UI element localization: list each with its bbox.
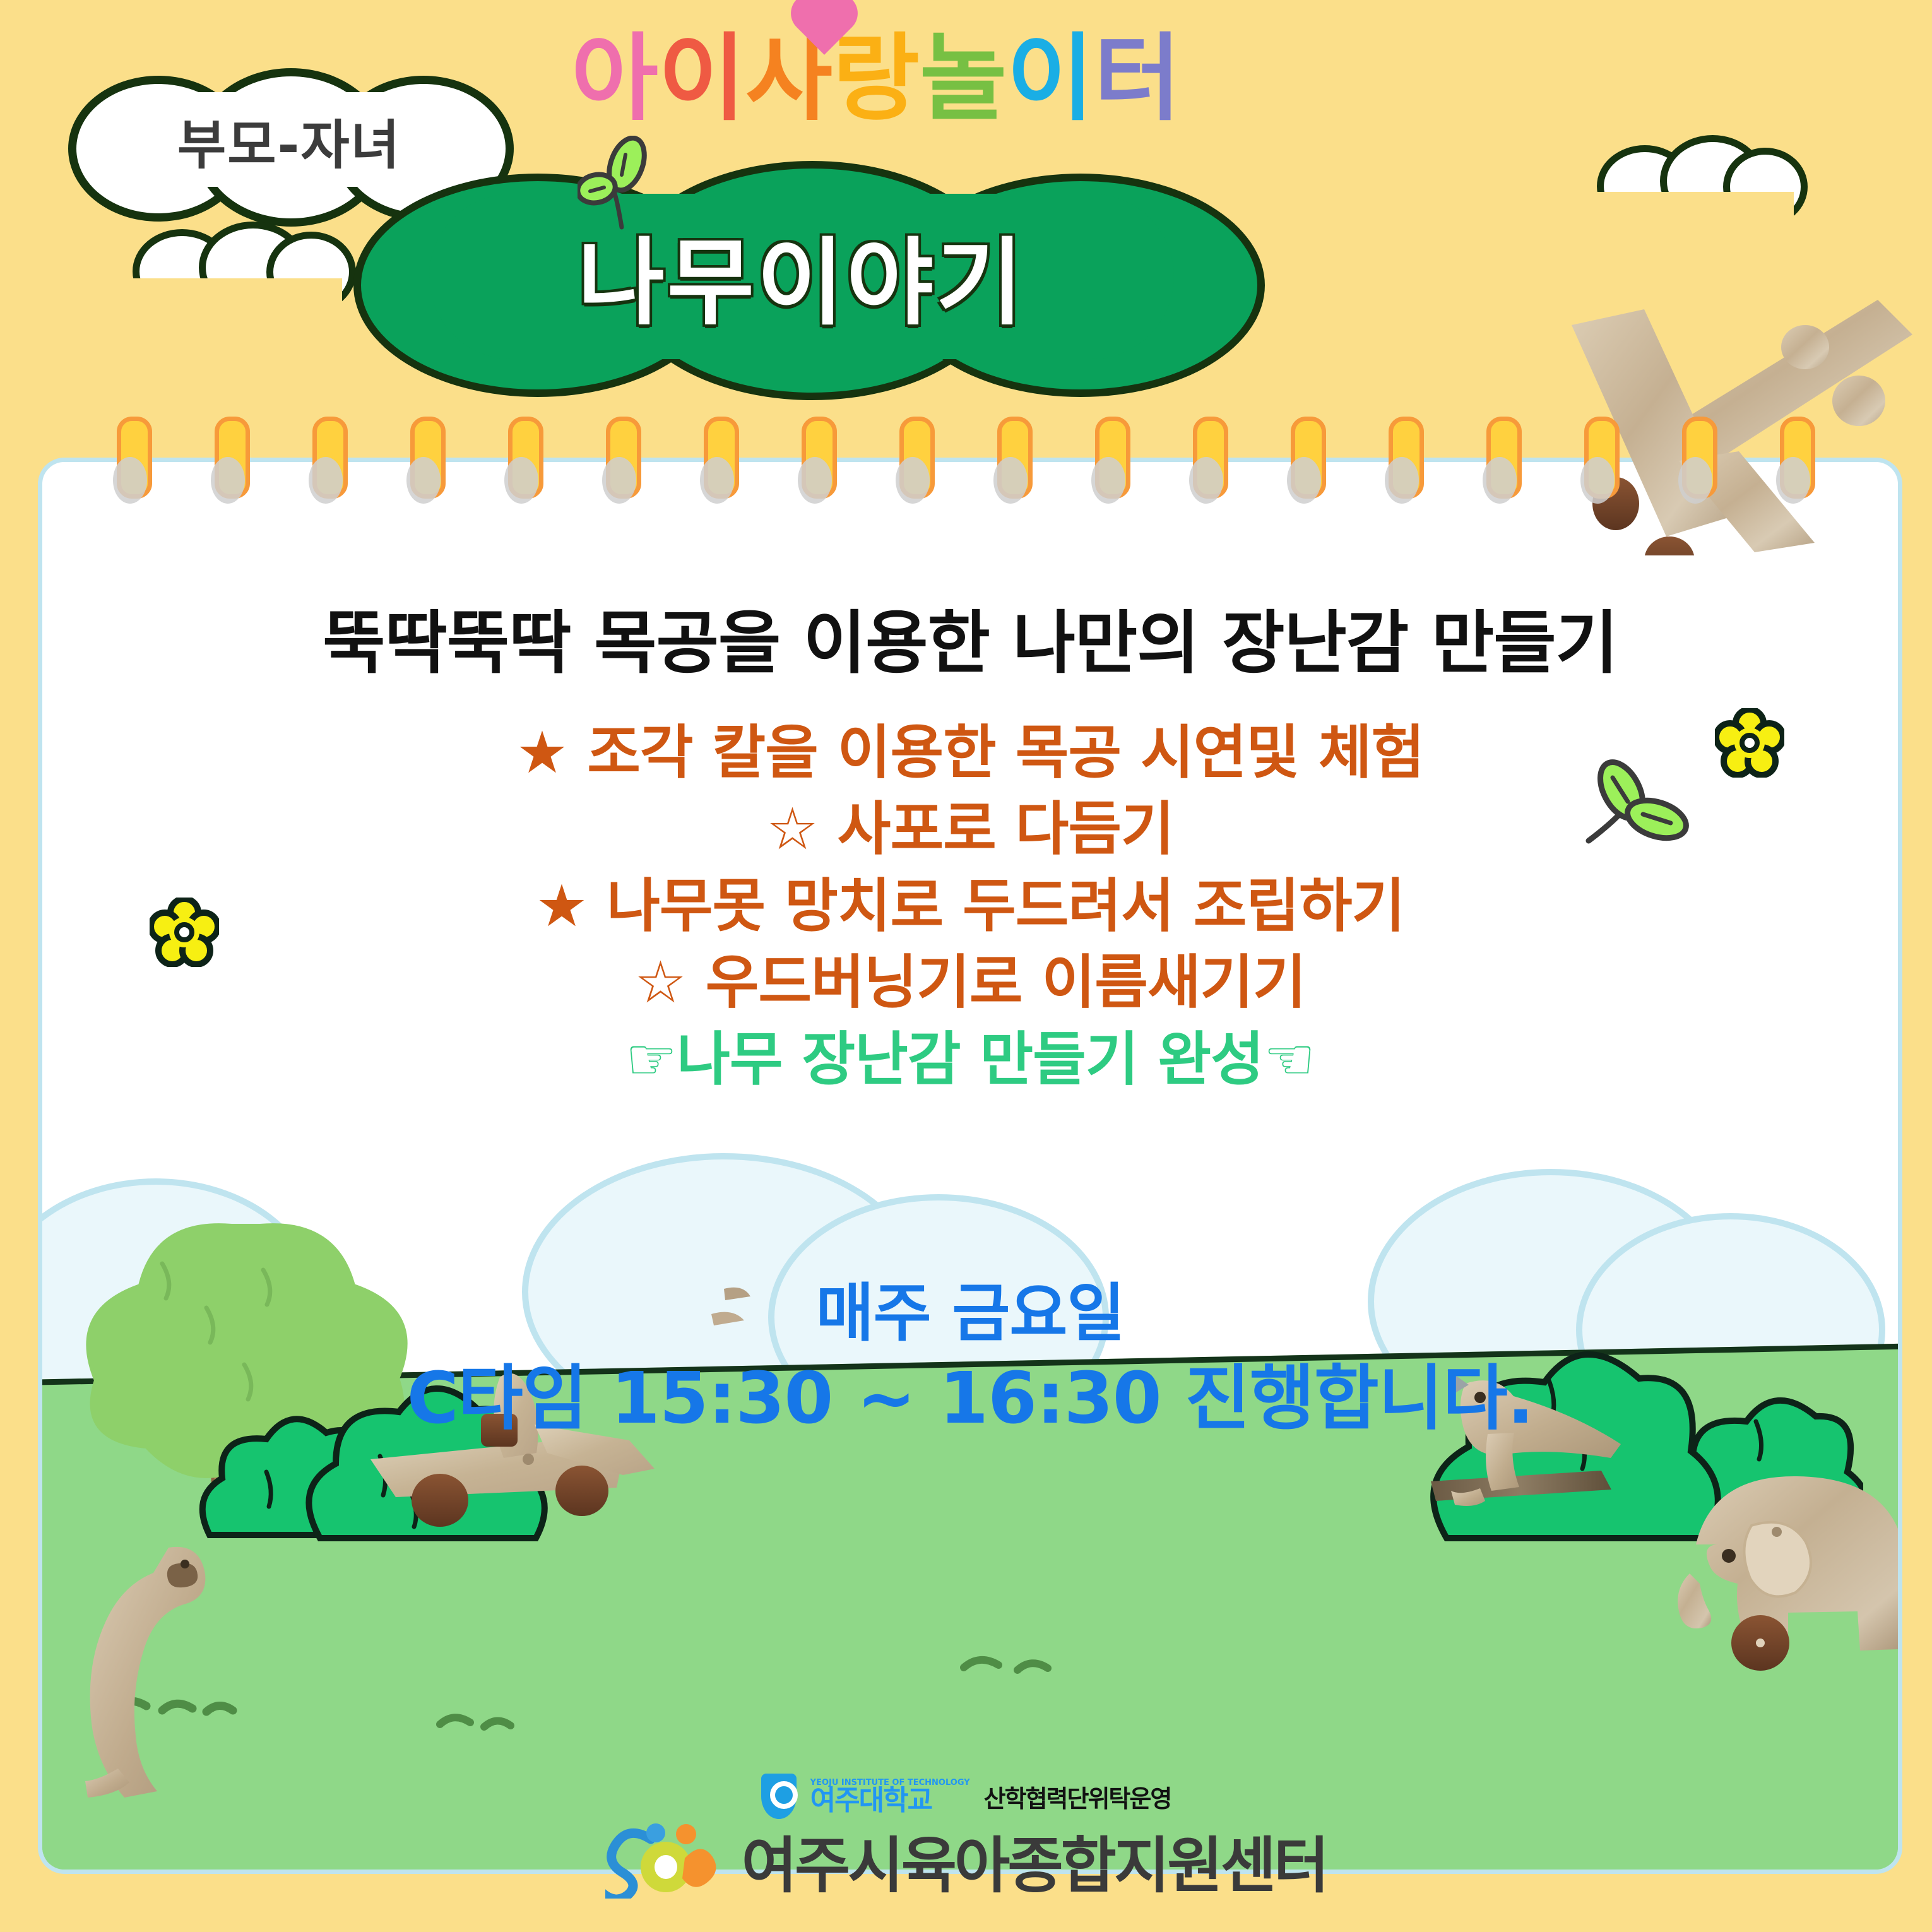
- wooden-elephant-toy: [1645, 1456, 1902, 1683]
- footer: YEOJU INSTITUTE OF TECHNOLOGY 여주대학교 산학협력…: [0, 1774, 1932, 1932]
- poster-root: 아 이 사 랑 놀 이 터 부모-자녀 나무이야기: [0, 0, 1932, 1932]
- spiral-ring-shadow: [602, 457, 636, 504]
- title-banner: 나무이야기: [353, 161, 1250, 388]
- spiral-ring-shadow: [700, 457, 734, 504]
- logo-char-0: 아: [571, 32, 658, 126]
- spiral-ring-shadow: [1776, 457, 1810, 504]
- cloud-decoration-right: [1597, 133, 1793, 215]
- spiral-ring-shadow: [406, 457, 441, 504]
- spiral-ring-shadow: [211, 457, 245, 504]
- activity-item-0: ★ 조각 칼을 이용한 목공 시연및 체험: [42, 714, 1898, 791]
- spiral-ring-shadow: [993, 457, 1028, 504]
- logo-char-1: 이: [658, 32, 745, 126]
- content-sheet: 뚝딱뚝딱 목공을 이용한 나만의 장난감 만들기 ★ 조각 칼을 이용한 목공 …: [38, 458, 1902, 1874]
- page-title: 나무이야기: [353, 161, 1250, 388]
- activity-list: ★ 조각 칼을 이용한 목공 시연및 체험 ☆ 사포로 다듬기 ★ 나무못 망치…: [42, 714, 1898, 1098]
- spiral-ring-shadow: [1678, 457, 1712, 504]
- schedule-day: 매주 금요일: [42, 1273, 1898, 1354]
- shield-ring: [770, 1781, 798, 1809]
- spiral-binding: [0, 417, 1932, 505]
- spiral-ring-shadow: [1287, 457, 1321, 504]
- spiral-ring-shadow: [113, 457, 147, 504]
- activity-item-3: ☆ 우드버닝기로 이름새기기: [42, 944, 1898, 1021]
- grass-tuft: [957, 1642, 1103, 1686]
- center-name: 여주시육아종합지원센터: [742, 1816, 1327, 1904]
- cloud-decoration-left: [133, 218, 341, 300]
- schedule-time: C타임 15:30 ~ 16:30 진행합니다.: [42, 1354, 1898, 1444]
- cloud-mask: [1597, 192, 1794, 230]
- spiral-ring-shadow: [798, 457, 832, 504]
- footer-center-row: 여주시육아종합지원센터: [0, 1816, 1932, 1904]
- cloud-mask: [133, 278, 342, 316]
- spiral-ring-shadow: [504, 457, 538, 504]
- spiral-ring-shadow: [1385, 457, 1419, 504]
- operation-note: 산학협력단위탁운영: [984, 1779, 1171, 1814]
- spiral-ring-shadow: [1091, 457, 1125, 504]
- logo-char-5: 이: [1007, 32, 1094, 126]
- footer-university-row: YEOJU INSTITUTE OF TECHNOLOGY 여주대학교 산학협력…: [0, 1774, 1932, 1819]
- wooden-dinosaur-toy: [61, 1535, 282, 1800]
- wooden-airplane-toy: [1550, 265, 1932, 555]
- university-shield-icon: [761, 1774, 797, 1819]
- completion-line: ☞나무 장난감 만들기 완성☜: [42, 1021, 1898, 1098]
- brand-logo: 아 이 사 랑 놀 이 터: [571, 13, 1181, 126]
- center-logo-icon: [605, 1823, 725, 1899]
- spiral-ring-shadow: [309, 457, 343, 504]
- spiral-ring-shadow: [1189, 457, 1223, 504]
- activity-item-1: ☆ 사포로 다듬기: [42, 791, 1898, 867]
- spiral-ring-shadow: [1580, 457, 1615, 504]
- logo-char-3: 랑: [833, 32, 920, 126]
- university-name: 여주대학교: [810, 1787, 932, 1815]
- sprout-leaf-icon: [578, 136, 660, 230]
- grass-tuft: [434, 1699, 560, 1743]
- activity-item-2: ★ 나무못 망치로 두드려서 조립하기: [42, 868, 1898, 944]
- logo-char-6: 터: [1094, 32, 1181, 126]
- spiral-ring-shadow: [1483, 457, 1517, 504]
- spiral-ring-shadow: [896, 457, 930, 504]
- logo-char-4: 놀: [920, 32, 1007, 126]
- schedule-block: 매주 금요일 C타임 15:30 ~ 16:30 진행합니다.: [42, 1273, 1898, 1444]
- headline: 뚝딱뚝딱 목공을 이용한 나만의 장난감 만들기: [42, 588, 1898, 687]
